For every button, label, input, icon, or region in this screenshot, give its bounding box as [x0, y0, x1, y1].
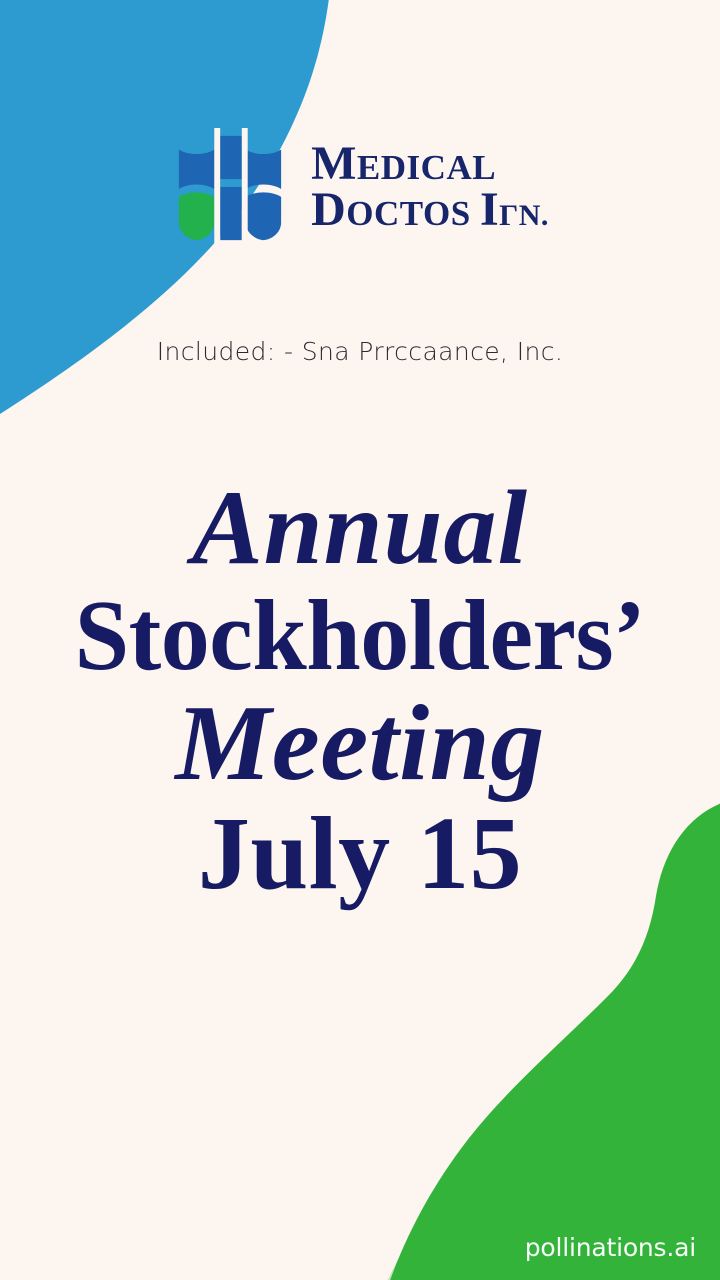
- headline-block: Annual Stockholders’ Meeting July 15: [0, 474, 720, 909]
- logo-right-shield: [246, 150, 281, 240]
- logo-upper-bar: [218, 136, 242, 179]
- headline-line-annual: Annual: [0, 474, 720, 582]
- headline-line-stockholders: Stockholders’: [11, 582, 709, 688]
- logo-wordmark-suffix-initial: I: [480, 183, 499, 236]
- logo-left-shield: [179, 150, 214, 240]
- logo-block: MEDICAL DOCTOS IГN.: [0, 128, 720, 246]
- logo-lower-bar: [220, 187, 242, 240]
- logo-wordmark: MEDICAL DOCTOS IГN.: [311, 142, 549, 232]
- watermark-label: pollinations.ai: [525, 1233, 696, 1262]
- logo-cross-separator-2: [242, 128, 248, 246]
- medical-shield-logo-icon: [171, 128, 289, 246]
- headline-line-meeting: Meeting: [0, 688, 720, 800]
- logo-wordmark-line-1: MEDICAL: [311, 142, 549, 186]
- logo-wordmark-line-2: DOCTOS IГN.: [311, 188, 549, 232]
- poster-canvas: MEDICAL DOCTOS IГN. Included: - Sna Prrc…: [0, 0, 720, 1280]
- logo-wordmark-line2-initial: D: [311, 183, 346, 236]
- subtitle-text: Included: - Sna Prrccaance, Inc.: [0, 337, 720, 366]
- headline-line-date: July 15: [0, 800, 720, 908]
- logo-cross-separator: [214, 128, 220, 246]
- logo-wordmark-line1-initial: M: [311, 137, 357, 190]
- logo-wordmark-line1-rest: EDICAL: [357, 148, 496, 187]
- logo-wordmark-line2-rest: OCTOS: [346, 194, 470, 233]
- green-ghost-shape: [382, 940, 720, 1280]
- logo-wordmark-suffix-rest: ГN.: [499, 199, 549, 232]
